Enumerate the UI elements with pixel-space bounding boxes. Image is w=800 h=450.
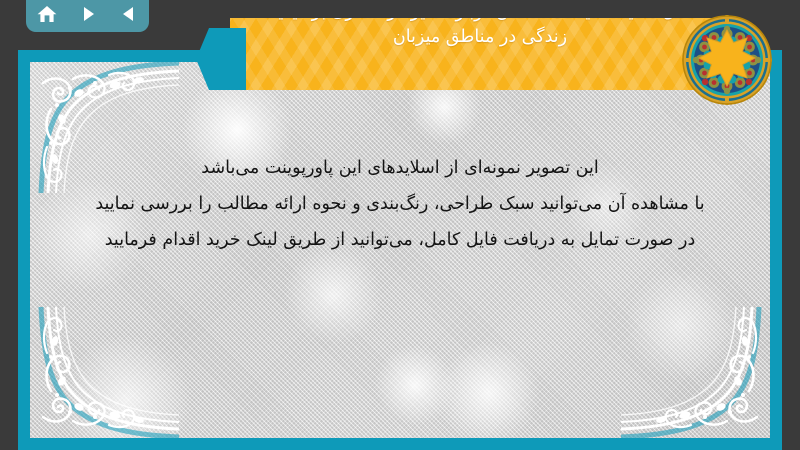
body-line-2: با مشاهده آن می‌توانید سبک طراحی، رنگ‌بن…	[48, 186, 752, 222]
home-icon	[36, 4, 58, 24]
triangle-left-icon	[119, 4, 139, 24]
previous-slide-button[interactable]	[114, 1, 144, 27]
corner-ornament-bottom-right	[621, 307, 770, 438]
slide-body-text: این تصویر نمونه‌ای از اسلایدهای این پاور…	[48, 150, 752, 258]
slide-content-area: این تصویر نمونه‌ای از اسلایدهای این پاور…	[30, 62, 770, 438]
triangle-right-icon	[78, 4, 98, 24]
body-line-3: در صورت تمایل به دریافت فایل کامل، می‌تو…	[48, 222, 752, 258]
navigation-bar	[26, 0, 149, 32]
next-slide-button[interactable]	[73, 1, 103, 27]
title-banner: کامل مقایسه دیدگاه ساکنان درباره تأثیر گ…	[230, 18, 730, 90]
corner-ornament-bottom-left	[30, 307, 179, 438]
body-line-1: این تصویر نمونه‌ای از اسلایدهای این پاور…	[48, 150, 752, 186]
page-title: کامل مقایسه دیدگاه ساکنان درباره تأثیر گ…	[230, 18, 730, 90]
home-button[interactable]	[32, 1, 62, 27]
slide-viewer: کامل مقایسه دیدگاه ساکنان درباره تأثیر گ…	[0, 0, 800, 450]
slide-frame: این تصویر نمونه‌ای از اسلایدهای این پاور…	[18, 50, 782, 450]
persian-medallion-ornament	[681, 14, 773, 106]
